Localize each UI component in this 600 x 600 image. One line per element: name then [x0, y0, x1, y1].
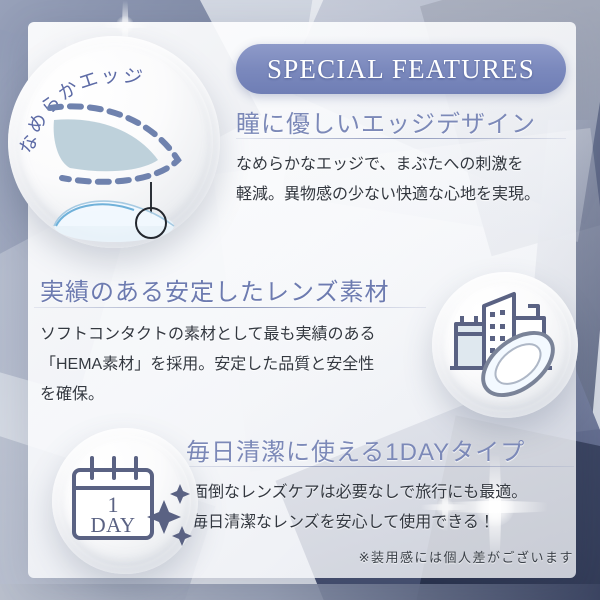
section-body-edge-design: なめらかなエッジで、まぶたへの刺激を 軽減。異物感の少ない快適な心地を実現。 — [236, 150, 540, 210]
section-heading-one-day: 毎日清潔に使える1DAYタイプ — [186, 432, 525, 467]
section-heading-edge-design: 瞳に優しいエッジデザイン — [236, 104, 536, 139]
section-rule — [182, 466, 574, 467]
body-line: を確保。 — [40, 380, 376, 410]
banner-title-pill: SPECIAL FEATURES — [236, 44, 566, 94]
page-title: SPECIAL FEATURES — [267, 54, 535, 85]
section-rule — [34, 307, 426, 308]
special-features-banner: SPECIAL FEATURES 瞳に優しいエッジデザイン なめらかなエッジで、… — [0, 0, 600, 600]
factory-icon — [432, 272, 578, 418]
body-line: 毎日清潔なレンズを安心して使用できる！ — [192, 508, 527, 538]
lens-cross-section-art — [8, 36, 220, 248]
calendar-icon: 1 DAY — [52, 428, 198, 574]
section-body-one-day: 面倒なレンズケアは必要なしで旅行にも最適。 毎日清潔なレンズを安心して使用できる… — [192, 478, 527, 538]
lens-section-shape — [54, 119, 158, 171]
body-line: 軽減。異物感の少ない快適な心地を実現。 — [236, 180, 540, 210]
building-left-block — [456, 324, 484, 368]
calendar-day-word: DAY — [90, 513, 135, 537]
body-line: 面倒なレンズケアは必要なしで旅行にも最適。 — [192, 478, 527, 508]
section-body-lens-material: ソフトコンタクトの素材として最も実績のある 「HEMA素材」を採用。安定した品質… — [40, 320, 376, 410]
bg-bottom-bar — [0, 584, 600, 600]
body-line: なめらかなエッジで、まぶたへの刺激を — [236, 150, 540, 180]
section-heading-lens-material: 実績のある安定したレンズ素材 — [40, 272, 390, 307]
section-rule — [236, 138, 566, 139]
body-line: ソフトコンタクトの素材として最も実績のある — [40, 320, 376, 350]
disclaimer-note: ※装用感には個人差がございます — [359, 547, 574, 566]
body-line: 「HEMA素材」を採用。安定した品質と安全性 — [40, 350, 376, 380]
